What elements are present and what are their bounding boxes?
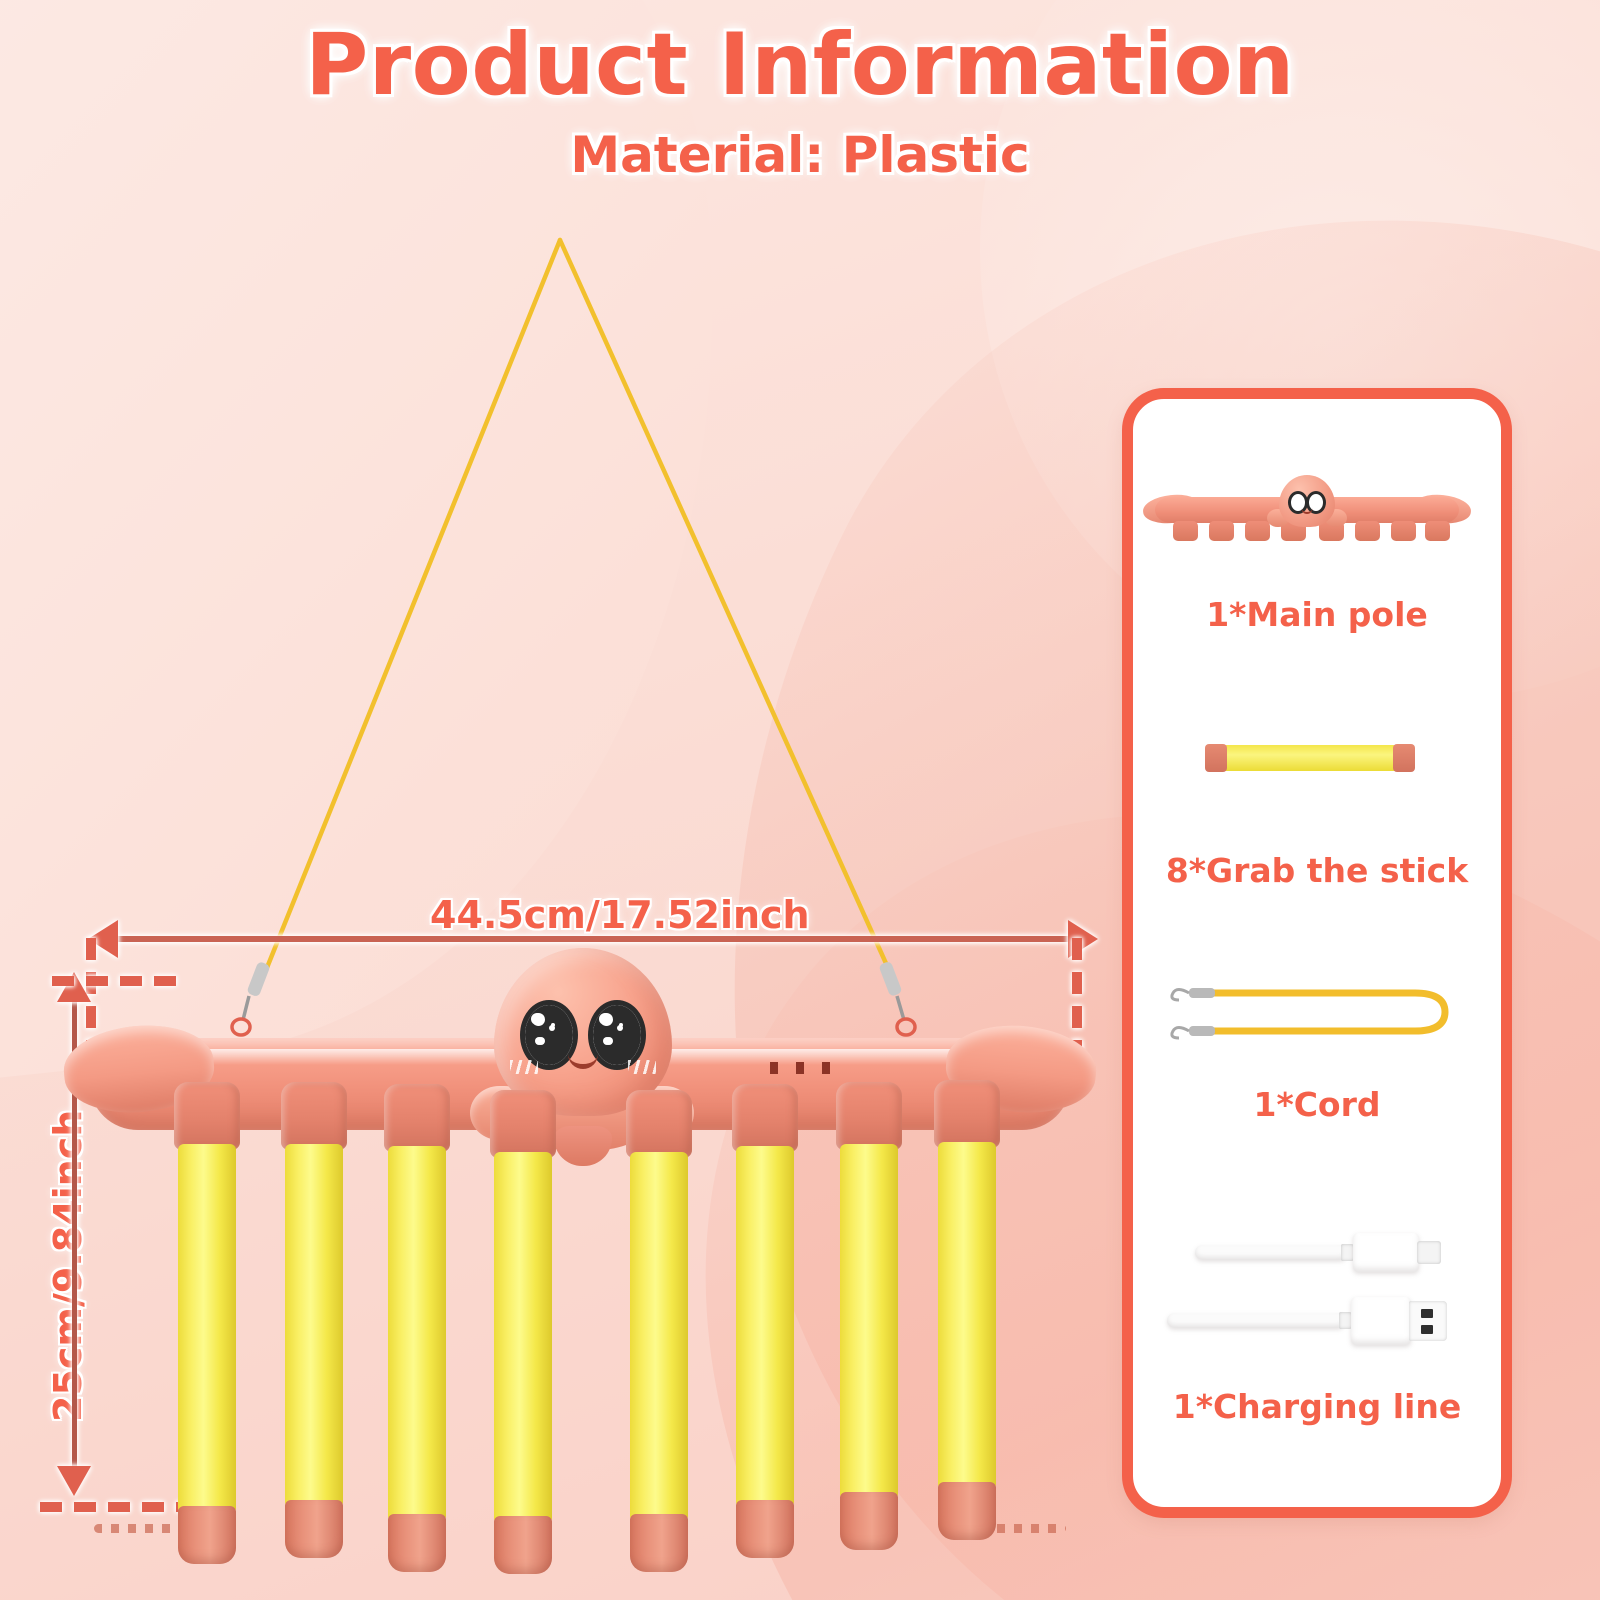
grab-stick-thumbnail xyxy=(1205,745,1415,771)
charging-line-thumbnail xyxy=(1159,1227,1469,1347)
width-dimension-line xyxy=(118,936,1068,942)
product-info-page: Product Information Material: Plastic 44… xyxy=(0,0,1600,1600)
page-subtitle: Material: Plastic xyxy=(0,126,1600,184)
height-guide-top xyxy=(52,976,182,986)
part-label-main-pole: 1*Main pole xyxy=(1133,595,1501,634)
part-label-cord: 1*Cord xyxy=(1133,1085,1501,1124)
octopus-beak xyxy=(554,1126,612,1166)
main-pole-thumbnail xyxy=(1147,477,1467,545)
cord-thumbnail xyxy=(1167,977,1457,1047)
octopus-blush-left xyxy=(510,1060,538,1074)
led-indicator-dots xyxy=(770,1062,834,1074)
part-label-grab-stick: 8*Grab the stick xyxy=(1133,851,1501,890)
header-block: Product Information Material: Plastic xyxy=(0,22,1600,184)
octopus-blush-right xyxy=(628,1060,656,1074)
product-illustration xyxy=(70,1020,1090,1540)
page-title: Product Information xyxy=(0,22,1600,110)
parts-list-panel: 1*Main pole 8*Grab the stick 1*Cord xyxy=(1122,388,1512,1518)
part-label-charging-line: 1*Charging line xyxy=(1133,1387,1501,1426)
octopus-mouth-icon xyxy=(568,1052,598,1069)
width-dimension-label: 44.5cm/17.52inch xyxy=(430,893,810,937)
